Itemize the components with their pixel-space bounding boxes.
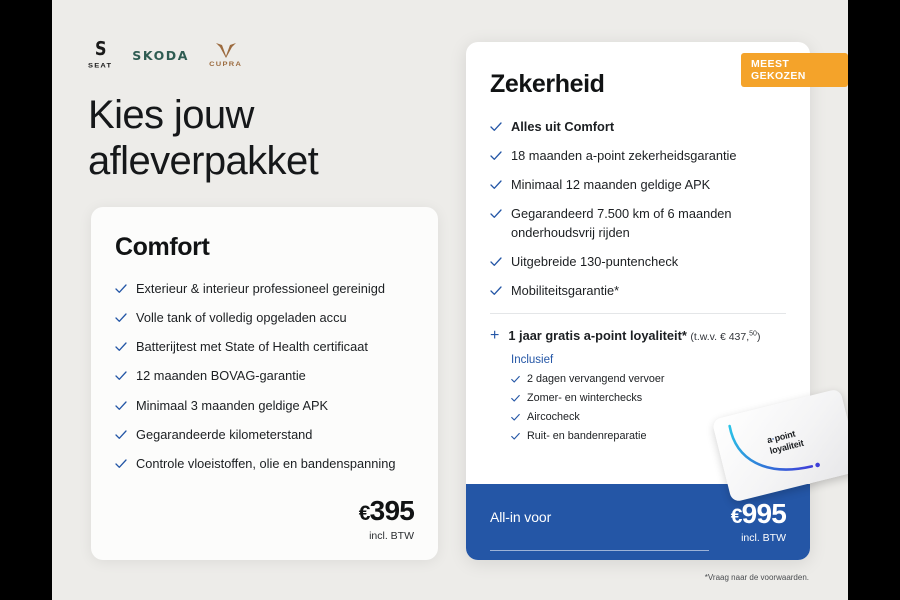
check-icon <box>490 256 502 268</box>
comfort-feature-item: Controle vloeistoffen, olie en bandenspa… <box>115 455 414 473</box>
inclusief-item: 2 dagen vervangend vervoer <box>511 372 786 386</box>
comfort-feature-label: Batterijtest met State of Health certifi… <box>136 338 368 356</box>
zekerheid-feature-label: 18 maanden a-point zekerheidsgarantie <box>511 147 737 165</box>
zekerheid-feature-list: Alles uit Comfort 18 maanden a-point zek… <box>490 118 786 300</box>
plus-icon: + <box>490 328 499 344</box>
comfort-feature-item: 12 maanden BOVAG-garantie <box>115 367 414 385</box>
zekerheid-feature-label: Gegarandeerd 7.500 km of 6 maanden onder… <box>511 205 786 241</box>
comfort-price-block: €395 incl. BTW <box>359 497 414 542</box>
comfort-feature-list: Exterieur & interieur professioneel gere… <box>115 280 414 473</box>
zekerheid-feature-label: Uitgebreide 130-puntencheck <box>511 253 678 271</box>
check-icon <box>490 121 502 133</box>
check-icon <box>115 312 127 324</box>
skoda-logo: SKODA <box>132 48 189 63</box>
zekerheid-feature-item: Mobiliteitsgarantie* <box>490 282 786 300</box>
zekerheid-feature-item: 18 maanden a-point zekerheidsgarantie <box>490 147 786 165</box>
loyalty-bonus-label: 1 jaar gratis a-point loyaliteit* <box>508 328 687 343</box>
comfort-vat-note: incl. BTW <box>359 530 414 542</box>
loyalty-value-prefix: (t.w.v. € 437, <box>690 331 749 343</box>
comfort-feature-label: 12 maanden BOVAG-garantie <box>136 367 306 385</box>
zekerheid-feature-label: Alles uit Comfort <box>511 118 614 136</box>
check-icon <box>490 208 502 220</box>
comfort-price: €395 <box>359 497 414 525</box>
inclusief-item-label: Ruit- en bandenreparatie <box>527 429 646 443</box>
loyalty-bonus-row: + 1 jaar gratis a-point loyaliteit* (t.w… <box>490 328 786 344</box>
check-icon <box>511 412 520 421</box>
comfort-feature-item: Batterijtest met State of Health certifi… <box>115 338 414 356</box>
zekerheid-feature-item: Gegarandeerd 7.500 km of 6 maanden onder… <box>490 205 786 241</box>
price-underline <box>490 550 709 551</box>
check-icon <box>115 429 127 441</box>
seat-logo-mark: S <box>94 40 105 59</box>
comfort-feature-label: Minimaal 3 maanden geldige APK <box>136 397 328 415</box>
comfort-title: Comfort <box>115 233 414 262</box>
check-icon <box>115 283 127 295</box>
seat-logo-word: SEAT <box>88 62 112 70</box>
inclusief-item-label: Zomer- en winterchecks <box>527 391 642 405</box>
currency-symbol: € <box>359 502 370 525</box>
page-content: S SEAT SKODA CUPRA Kies jouw afleverpakk… <box>52 0 848 600</box>
footnote: *Vraag naar de voorwaarden. <box>705 573 809 582</box>
zekerheid-feature-item: Minimaal 12 maanden geldige APK <box>490 176 786 194</box>
loyalty-value-suffix: ) <box>757 331 761 343</box>
check-icon <box>511 393 520 402</box>
comfort-feature-item: Gegarandeerde kilometerstand <box>115 426 414 444</box>
zekerheid-feature-label: Minimaal 12 maanden geldige APK <box>511 176 710 194</box>
cupra-logo: CUPRA <box>209 42 242 68</box>
screenshot-stage: S SEAT SKODA CUPRA Kies jouw afleverpakk… <box>0 0 900 600</box>
check-icon <box>115 370 127 382</box>
comfort-feature-item: Volle tank of volledig opgeladen accu <box>115 309 414 327</box>
loyalty-bonus-value: (t.w.v. € 437,50) <box>690 331 760 343</box>
check-icon <box>511 431 520 440</box>
zekerheid-price-value: 995 <box>742 498 786 529</box>
comfort-package-card[interactable]: Comfort Exterieur & interieur profession… <box>91 207 438 560</box>
zekerheid-feature-label: Mobiliteitsgarantie* <box>511 282 619 300</box>
check-icon <box>490 285 502 297</box>
check-icon <box>115 458 127 470</box>
check-icon <box>490 150 502 162</box>
cupra-logo-word: CUPRA <box>209 59 242 67</box>
check-icon <box>490 179 502 191</box>
zekerheid-body: Zekerheid Alles uit Comfort 18 maanden a… <box>466 42 810 443</box>
zekerheid-price-block: €995 incl. BTW <box>731 500 786 544</box>
check-icon <box>115 341 127 353</box>
allin-label: All-in voor <box>490 500 551 525</box>
inclusief-item-label: Aircocheck <box>527 410 580 424</box>
comfort-feature-label: Volle tank of volledig opgeladen accu <box>136 309 347 327</box>
zekerheid-vat-note: incl. BTW <box>731 532 786 544</box>
zekerheid-feature-item: Alles uit Comfort <box>490 118 786 136</box>
check-icon <box>511 374 520 383</box>
loyalty-value-cents: 50 <box>749 331 757 338</box>
comfort-feature-label: Controle vloeistoffen, olie en bandenspa… <box>136 455 395 473</box>
comfort-feature-item: Exterieur & interieur professioneel gere… <box>115 280 414 298</box>
comfort-feature-label: Exterieur & interieur professioneel gere… <box>136 280 385 298</box>
inclusief-item: Zomer- en winterchecks <box>511 391 786 405</box>
brand-logo-bar: S SEAT SKODA CUPRA <box>88 38 242 72</box>
most-chosen-badge: MEEST GEKOZEN <box>741 53 848 87</box>
inclusief-item-label: 2 dagen vervangend vervoer <box>527 372 664 386</box>
inclusief-label: Inclusief <box>511 354 786 366</box>
currency-symbol: € <box>731 505 742 528</box>
seat-logo: S SEAT <box>88 40 112 70</box>
comfort-feature-item: Minimaal 3 maanden geldige APK <box>115 397 414 415</box>
cupra-emblem-icon <box>215 42 237 58</box>
zekerheid-feature-item: Uitgebreide 130-puntencheck <box>490 253 786 271</box>
check-icon <box>115 400 127 412</box>
zekerheid-price: €995 <box>731 500 786 528</box>
zekerheid-price-row: All-in voor €995 incl. BTW <box>490 500 786 544</box>
page-title: Kies jouw afleverpakket <box>88 92 318 185</box>
comfort-price-value: 395 <box>370 495 414 526</box>
comfort-feature-label: Gegarandeerde kilometerstand <box>136 426 312 444</box>
zekerheid-divider <box>490 313 786 314</box>
